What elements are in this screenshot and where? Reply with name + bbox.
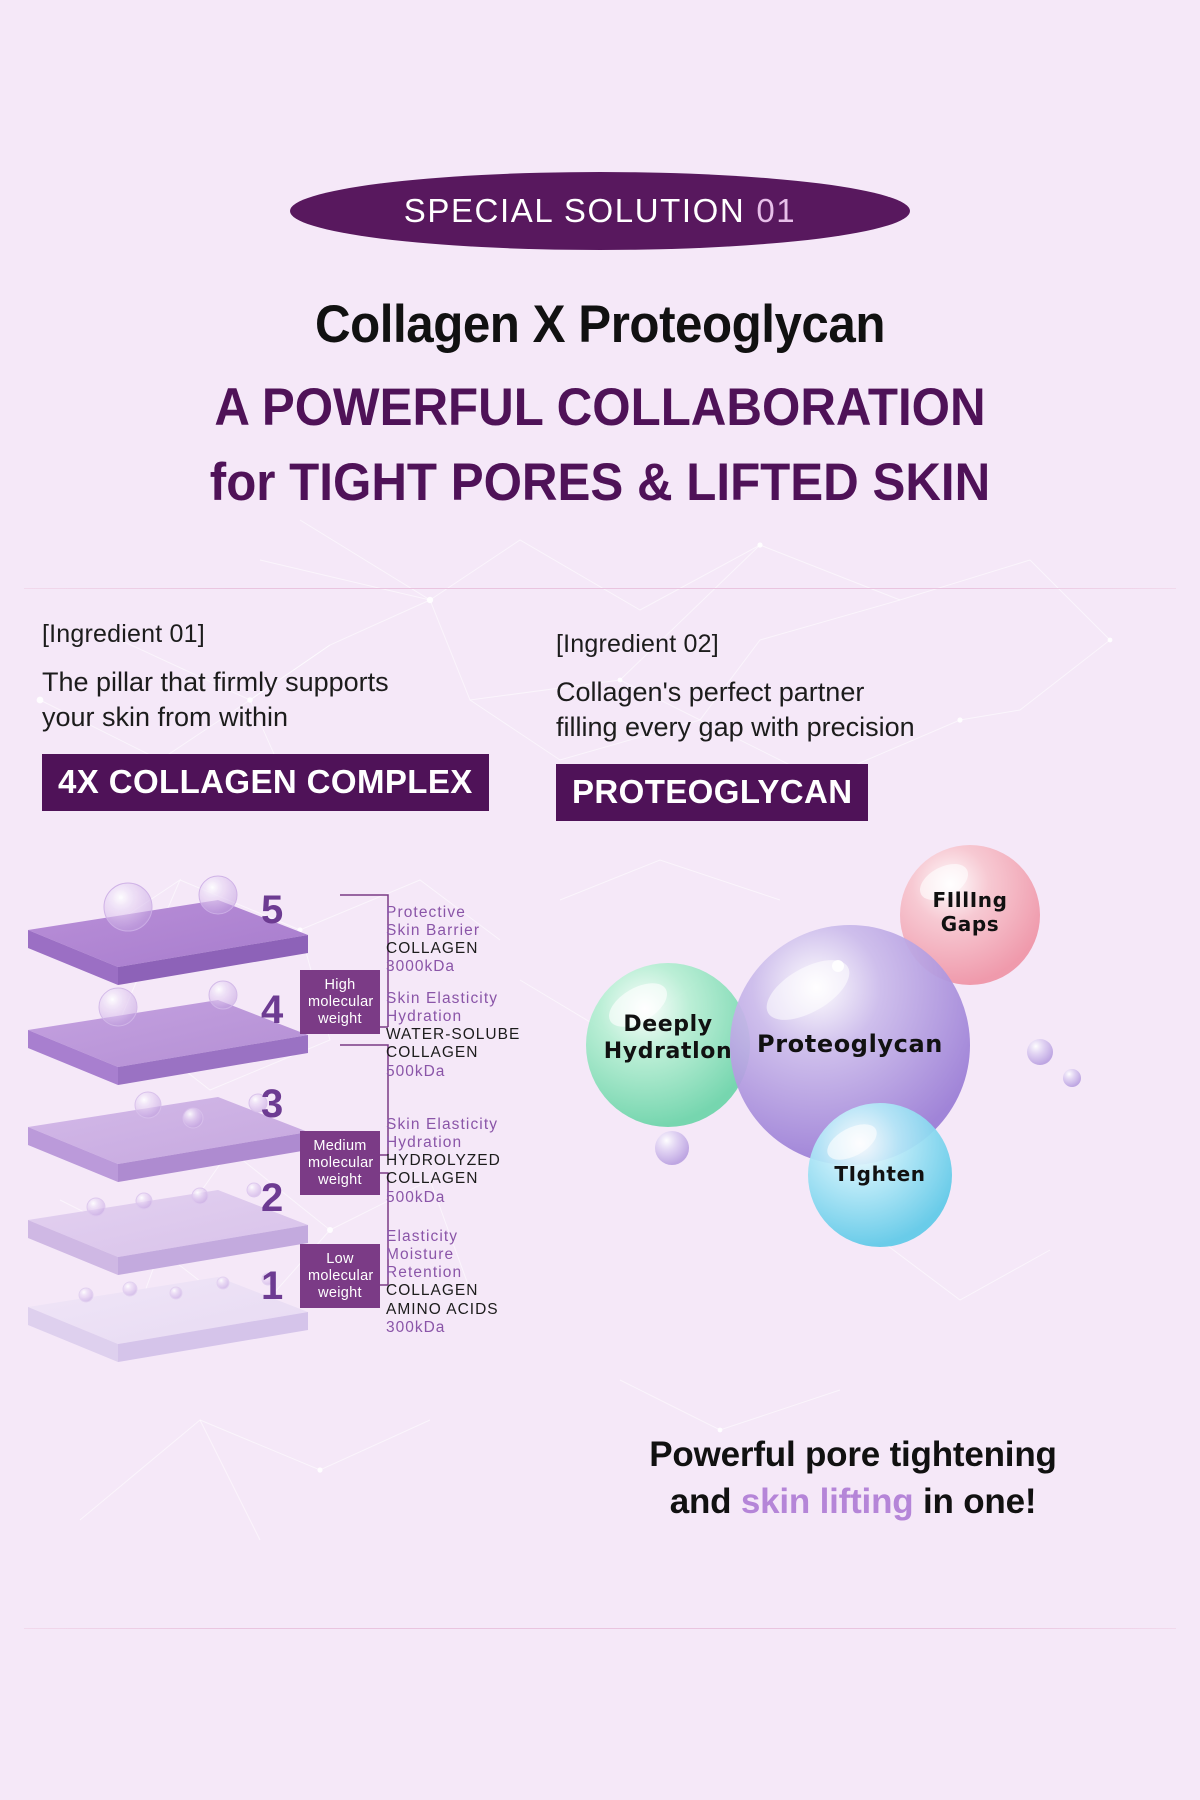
label-4-name-line-1: COLLAGEN [386, 1282, 499, 1300]
label-4-name-line-2: AMINO ACIDS [386, 1301, 499, 1319]
label-1-kda: 3000kDa [386, 958, 480, 976]
bubble-green-line-2: Hydratlon [588, 1039, 748, 1066]
label-2-kda: 500kDa [386, 1063, 520, 1081]
label-2-benefit-line-1: Skin Elasticity [386, 990, 520, 1008]
tagline-line-1: Powerful pore tightening [548, 1432, 1158, 1479]
ingredient-02-desc-line-2: filling every gap with precision [556, 710, 915, 745]
mw-high-line-2: molecular [308, 994, 372, 1011]
ingredient-01-description: The pillar that firmly supports your ski… [42, 665, 489, 734]
bubble-green-line-1: Deeply [588, 1012, 748, 1039]
bubble-pink-line-2: Gaps [905, 912, 1035, 936]
label-3-benefit-line-2: Hydration [386, 1134, 501, 1152]
proteoglycan-bubble-cluster: Deeply Hydratlon Proteoglycan FIllIng Ga… [520, 830, 1180, 1360]
special-solution-badge: SPECIAL SOLUTION 01 [290, 172, 910, 250]
bubble-pink-label: FIllIng Gaps [905, 888, 1035, 937]
molecular-weight-chip-high: High molecular weight [300, 970, 380, 1034]
headline-block: Collagen X Proteoglycan A POWERFUL COLLA… [0, 294, 1200, 513]
ingredient-01-chip: 4X COLLAGEN COMPLEX [42, 754, 489, 811]
mw-medium-line-2: molecular [308, 1155, 372, 1172]
stack-number-2: 2 [261, 1176, 283, 1220]
label-1-benefit-line-2: Skin Barrier [386, 922, 480, 940]
bubble-mini-2 [1027, 1039, 1053, 1065]
stack-label-group-2: Skin Elasticity Hydration WATER-SOLUBE C… [386, 990, 520, 1081]
headline-line-2: A POWERFUL COLLABORATION [42, 377, 1158, 438]
mw-low-line-1: Low [308, 1251, 372, 1268]
bubble-purple-label: Proteoglycan [725, 1030, 975, 1059]
mw-high-line-3: weight [308, 1011, 372, 1028]
label-2-name-line-2: COLLAGEN [386, 1044, 520, 1062]
tagline-line-2: and skin lifting in one! [548, 1479, 1158, 1526]
badge-number: 01 [756, 192, 796, 230]
molecular-weight-chip-medium: Medium molecular weight [300, 1131, 380, 1195]
label-4-benefit-line-2: Moisture [386, 1246, 499, 1264]
headline-line-1: Collagen X Proteoglycan [42, 294, 1158, 355]
mw-medium-line-1: Medium [308, 1138, 372, 1155]
stack-number-3: 3 [261, 1082, 283, 1126]
molecular-weight-chip-low: Low molecular weight [300, 1244, 380, 1308]
stack-label-group-1: Protective Skin Barrier COLLAGEN 3000kDa [386, 904, 480, 977]
bubble-pink-line-1: FIllIng [905, 888, 1035, 912]
headline-line-3: for TIGHT PORES & LIFTED SKIN [42, 452, 1158, 513]
label-3-benefit-line-1: Skin Elasticity [386, 1116, 501, 1134]
stack-number-4: 4 [261, 988, 284, 1032]
stack-label-group-3: Skin Elasticity Hydration HYDROLYZED COL… [386, 1116, 501, 1207]
ingredient-02-description: Collagen's perfect partner filling every… [556, 675, 915, 744]
bubble-mini-3 [1063, 1069, 1081, 1087]
ingredient-02-desc-line-1: Collagen's perfect partner [556, 675, 915, 710]
label-1-name-line-1: COLLAGEN [386, 940, 480, 958]
bubble-green-label: Deeply Hydratlon [588, 1012, 748, 1066]
special-solution-badge-wrap: SPECIAL SOLUTION 01 [0, 0, 1200, 250]
ingredient-02-chip: PROTEOGLYCAN [556, 764, 868, 821]
label-3-name-line-1: HYDROLYZED [386, 1152, 501, 1170]
ingredient-02-tag: [Ingredient 02] [556, 630, 915, 659]
ingredient-01-desc-line-1: The pillar that firmly supports [42, 665, 489, 700]
tagline-line-2-before: and [670, 1482, 741, 1521]
ingredient-block-02: [Ingredient 02] Collagen's perfect partn… [556, 630, 915, 821]
bubble-blue-line-1: TIghten [815, 1162, 945, 1186]
bubble-purple-line-1: Proteoglycan [725, 1030, 975, 1059]
label-3-kda: 500kDa [386, 1189, 501, 1207]
infographic-page: SPECIAL SOLUTION 01 Collagen X Proteogly… [0, 0, 1200, 1800]
stack-label-column: Protective Skin Barrier COLLAGEN 3000kDa… [300, 888, 540, 1358]
bubble-blue-label: TIghten [815, 1162, 945, 1186]
label-2-name-line-1: WATER-SOLUBE [386, 1026, 520, 1044]
stack-number-5: 5 [261, 888, 283, 932]
tagline-accent: skin lifting [741, 1482, 914, 1521]
mw-medium-line-3: weight [308, 1172, 372, 1189]
mw-high-line-1: High [308, 977, 372, 994]
divider-bottom [24, 1628, 1176, 1629]
tagline-line-2-after: in one! [913, 1482, 1036, 1521]
mw-low-line-3: weight [308, 1285, 372, 1302]
stack-label-group-4: Elasticity Moisture Retention COLLAGEN A… [386, 1228, 499, 1337]
closing-tagline: Powerful pore tightening and skin liftin… [548, 1432, 1158, 1526]
ingredient-01-tag: [Ingredient 01] [42, 620, 489, 649]
label-1-benefit-line-1: Protective [386, 904, 480, 922]
ingredient-block-01: [Ingredient 01] The pillar that firmly s… [42, 620, 489, 811]
label-3-name-line-2: COLLAGEN [386, 1170, 501, 1188]
ingredient-01-desc-line-2: your skin from within [42, 700, 489, 735]
bubble-mini-1 [655, 1131, 689, 1165]
label-4-benefit-line-1: Elasticity [386, 1228, 499, 1246]
label-4-benefit-line-3: Retention [386, 1264, 499, 1282]
stack-number-1: 1 [261, 1264, 283, 1308]
label-4-kda: 300kDa [386, 1319, 499, 1337]
label-2-benefit-line-2: Hydration [386, 1008, 520, 1026]
mw-low-line-2: molecular [308, 1268, 372, 1285]
badge-label: SPECIAL SOLUTION [404, 192, 746, 230]
divider-top [24, 588, 1176, 589]
